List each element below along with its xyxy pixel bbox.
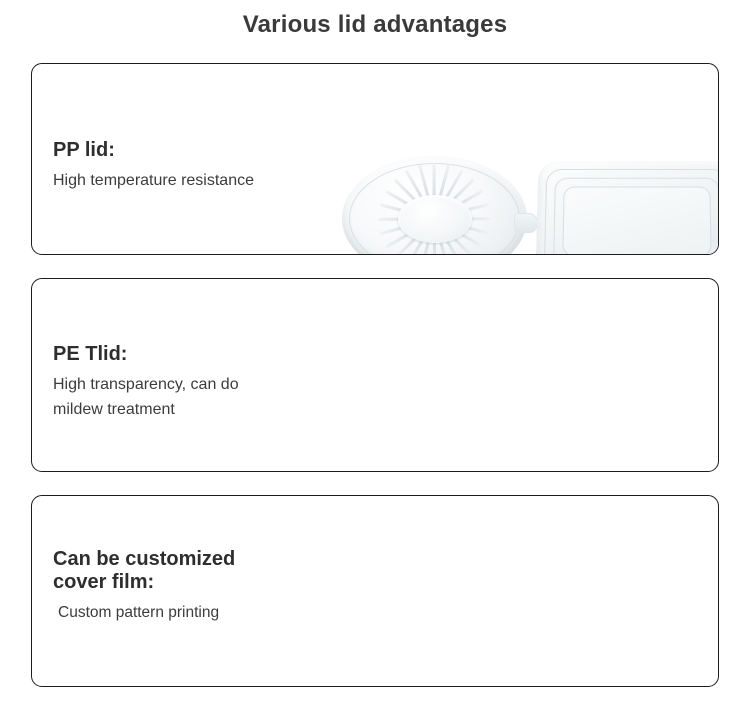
card-cover-film-subtext: Custom pattern printing	[53, 601, 235, 625]
lid-body	[535, 161, 719, 255]
lid-center-dome	[398, 195, 472, 243]
card-pe-tlid-subtext: High transparency, can do mildew treatme…	[53, 373, 239, 423]
card-cover-film-heading: Can be customized cover film:	[53, 548, 235, 594]
rectangular-pp-lid-image	[537, 160, 719, 255]
card-pp-lid: PP lid: High temperature resistance	[31, 63, 719, 255]
card-pp-lid-text: PP lid: High temperature resistance	[53, 139, 254, 194]
card-cover-film-text: Can be customized cover film: Custom pat…	[53, 548, 235, 625]
lid-side-tab	[514, 213, 538, 233]
card-pe-tlid-heading: PE Tlid:	[53, 343, 239, 366]
round-ribbed-pp-lid-image	[342, 156, 527, 255]
card-pe-tlid: PE Tlid: High transparency, can do milde…	[31, 278, 719, 472]
card-pp-lid-subtext: High temperature resistance	[53, 169, 254, 194]
page-title: Various lid advantages	[0, 11, 750, 39]
lid-ridge-inner	[562, 186, 711, 255]
card-cover-film: Can be customized cover film: Custom pat…	[31, 495, 719, 687]
card-pe-tlid-text: PE Tlid: High transparency, can do milde…	[53, 343, 239, 423]
card-pp-lid-heading: PP lid:	[53, 139, 254, 162]
